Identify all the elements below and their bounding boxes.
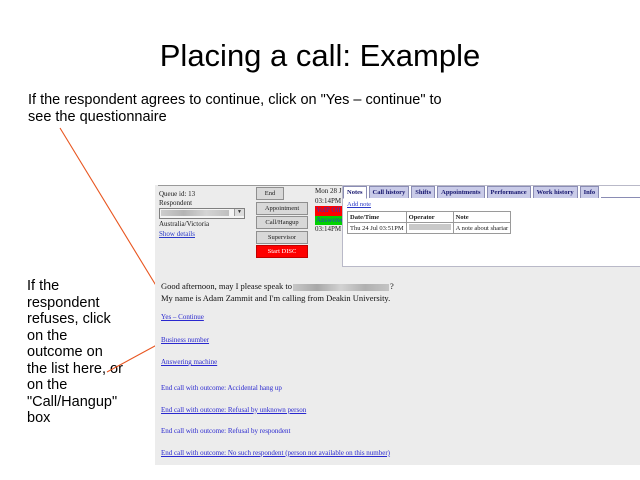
operator-redacted: [409, 224, 451, 230]
respondent-name-redacted: [293, 284, 389, 291]
tab-notes[interactable]: Notes: [343, 186, 367, 199]
table-header-row: Date/Time Operator Note: [348, 212, 511, 223]
voip-status-badge: VoIP Off: [315, 206, 342, 216]
appointment-button[interactable]: Appointment: [256, 202, 308, 215]
script-line-1-before: Good afternoon, may I please speak to: [161, 281, 292, 291]
call-script: Good afternoon, may I please speak to? M…: [161, 280, 561, 304]
respondent-select[interactable]: ▼: [159, 208, 245, 219]
answered-status-badge: Answered: [315, 216, 345, 226]
call-control-panel: Queue id: 13 Respondent ▼ Australia/Vict…: [155, 185, 345, 255]
annotation-top-text: If the respondent agrees to continue, cl…: [28, 92, 458, 126]
link-answering-machine[interactable]: Answering machine: [161, 358, 631, 367]
tab-work-history[interactable]: Work history: [533, 186, 578, 198]
script-line-2: My name is Adam Zammit and I'm calling f…: [161, 292, 561, 304]
arrow-top: [60, 128, 163, 297]
embedded-app-screenshot: Queue id: 13 Respondent ▼ Australia/Vict…: [155, 185, 640, 465]
chevron-down-icon[interactable]: ▼: [234, 209, 244, 216]
tab-shifts[interactable]: Shifts: [411, 186, 435, 198]
notes-table: Date/Time Operator Note Thu 24 Jul 03:51…: [347, 211, 511, 234]
tab-info[interactable]: Info: [580, 186, 600, 198]
link-outcome-refusal-by-respondent[interactable]: End call with outcome: Refusal by respon…: [161, 427, 631, 436]
cell-datetime: Thu 24 Jul 03:51PM: [348, 223, 407, 234]
end-button[interactable]: End: [256, 187, 284, 200]
queue-id-label: Queue id: 13: [159, 190, 195, 199]
timezone-label: Australia/Victoria: [159, 220, 209, 229]
add-note-link[interactable]: Add note: [347, 201, 371, 208]
tab-appointments[interactable]: Appointments: [437, 186, 484, 198]
panel-divider: [158, 185, 342, 186]
page-title: Placing a call: Example: [0, 38, 640, 74]
script-line-1-after: ?: [390, 281, 394, 291]
cell-operator: [406, 223, 453, 234]
supervisor-button[interactable]: Supervisor: [256, 231, 308, 244]
link-business-number[interactable]: Business number: [161, 336, 631, 345]
column-header-operator: Operator: [406, 212, 453, 223]
respondent-label: Respondent: [159, 199, 192, 208]
tab-call-history[interactable]: Call history: [369, 186, 410, 198]
link-outcome-no-such-respondent[interactable]: End call with outcome: No such responden…: [161, 449, 631, 458]
link-outcome-refusal-unknown-person[interactable]: End call with outcome: Refusal by unknow…: [161, 406, 631, 415]
link-outcome-accidental-hang-up[interactable]: End call with outcome: Accidental hang u…: [161, 384, 631, 393]
script-line-1: Good afternoon, may I please speak to?: [161, 280, 561, 292]
tab-strip-filler: [601, 186, 640, 198]
notes-panel: Notes Call history Shifts Appointments P…: [342, 185, 640, 267]
show-details-link[interactable]: Show details: [159, 230, 195, 239]
outcome-links-list: Yes – Continue Business number Answering…: [161, 313, 631, 465]
annotation-left-text: If the respondent refuses, click on the …: [27, 278, 123, 427]
table-row[interactable]: Thu 24 Jul 03:51PM A note about shariar: [348, 223, 511, 234]
tab-performance[interactable]: Performance: [487, 186, 531, 198]
start-disc-button[interactable]: Start DISC: [256, 245, 308, 258]
column-header-note: Note: [453, 212, 511, 223]
respondent-value-redacted: [161, 210, 229, 216]
cell-note: A note about shariar: [453, 223, 511, 234]
link-yes-continue[interactable]: Yes – Continue: [161, 313, 631, 322]
call-hangup-button[interactable]: Call/Hangup: [256, 216, 308, 229]
column-header-datetime: Date/Time: [348, 212, 407, 223]
call-action-buttons: End Appointment Call/Hangup Supervisor S…: [256, 187, 308, 258]
tab-strip: Notes Call history Shifts Appointments P…: [343, 186, 640, 198]
